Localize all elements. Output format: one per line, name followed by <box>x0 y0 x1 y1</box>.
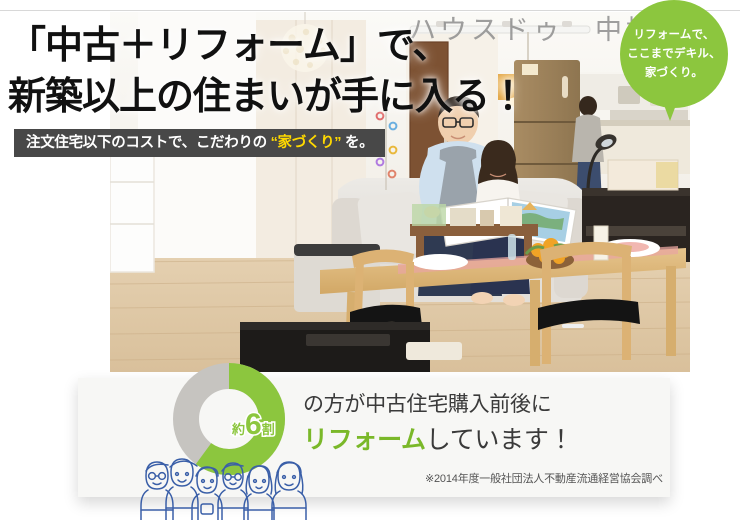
headline-line-1: 「中古＋リフォーム」で、 <box>8 24 526 69</box>
stat-copy: の方が中古住宅購入前後に リフォームしています！ <box>303 392 573 456</box>
subheadline-prefix: 注文住宅以下のコストで、こだわりの <box>26 135 271 151</box>
bubble-line-3: 家づくり。 <box>620 64 728 83</box>
stat-copy-highlight: リフォーム <box>303 426 426 454</box>
bubble-line-2: ここまでデキル、 <box>620 45 728 64</box>
source-footnote: ※2014年度一般社団法人不動産流通経営協会調べ <box>425 470 663 486</box>
donut-percentage-label: 約6割 <box>232 408 275 442</box>
subheadline-bar: 注文住宅以下のコストで、こだわりの “家づくり” を。 <box>14 129 385 157</box>
subheadline-suffix: を。 <box>341 135 373 151</box>
headline-line-2: 新築以上の住まいが手に入る！ <box>8 75 526 120</box>
stat-copy-line-2-rest: しています！ <box>426 426 573 454</box>
person-2 <box>166 459 198 520</box>
donut-label-suffix: 割 <box>262 422 275 437</box>
stat-copy-line-2: リフォームしています！ <box>303 424 573 456</box>
donut-label-prefix: 約 <box>232 422 245 437</box>
bubble-line-1: リフォームで、 <box>620 26 728 45</box>
person-6 <box>272 462 306 520</box>
promo-banner: ハウスドゥ 中地南 リフォームで、 ここまでデキル、 家づくり。 「中古＋リフォ… <box>0 0 740 525</box>
donut-label-value: 6 <box>245 408 262 441</box>
people-illustration <box>138 452 328 520</box>
stat-copy-line-1: の方が中古住宅購入前後に <box>303 392 573 419</box>
subheadline-highlight: “家づくり” <box>271 135 342 151</box>
speech-bubble: リフォームで、 ここまでデキル、 家づくり。 <box>620 0 728 108</box>
headline: 「中古＋リフォーム」で、 新築以上の住まいが手に入る！ <box>8 24 526 120</box>
